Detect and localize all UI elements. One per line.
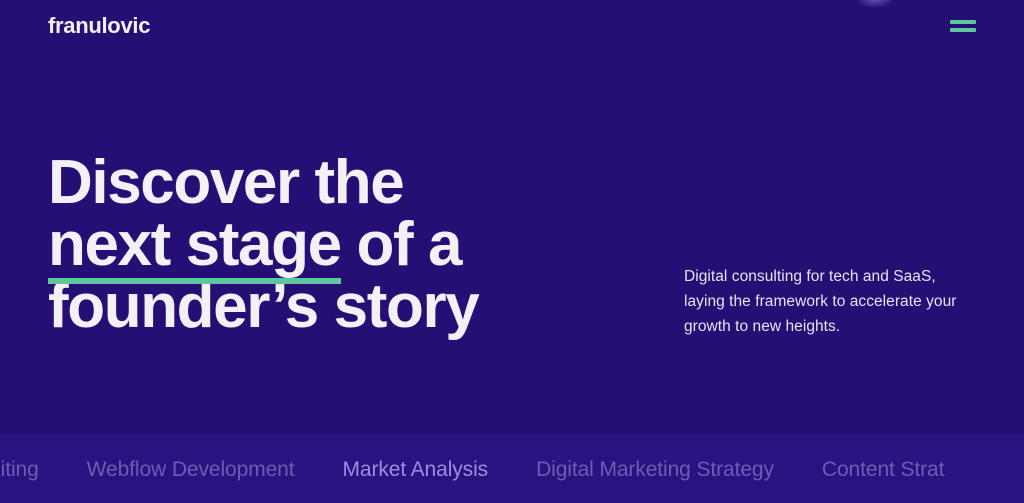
page-title: Discover the next stage of a founder’s s… xyxy=(48,152,478,338)
hero-subcopy: Digital consulting for tech and SaaS, la… xyxy=(684,264,974,339)
headline-underlined-phrase: next stage xyxy=(48,214,341,276)
headline-underlined-text: next stage xyxy=(48,210,341,279)
marquee-item[interactable]: Market Analysis xyxy=(319,459,513,480)
headline-line-3: founder’s story xyxy=(48,276,478,338)
hamburger-menu-icon[interactable] xyxy=(950,13,980,39)
marquee-item[interactable]: Digital Marketing Strategy xyxy=(512,459,798,480)
hamburger-bar-bottom xyxy=(950,28,976,32)
headline-underline-rule xyxy=(48,278,341,284)
headline-line-2: next stage of a xyxy=(48,214,478,276)
navbar: franulovic xyxy=(0,0,1024,52)
hero-section: Discover the next stage of a founder’s s… xyxy=(0,52,1024,435)
brand-logo[interactable]: franulovic xyxy=(48,15,150,37)
headline-line-2-rest: of a xyxy=(341,210,461,279)
marquee-item[interactable]: Content Strat xyxy=(798,459,968,480)
hamburger-bar-top xyxy=(950,20,976,24)
services-marquee[interactable]: e & SEO AuditingWebflow DevelopmentMarke… xyxy=(0,435,1024,503)
headline-line-1: Discover the xyxy=(48,152,478,214)
hero-page: franulovic Discover the next stage of a … xyxy=(0,0,1024,503)
marquee-item[interactable]: Webflow Development xyxy=(63,459,319,480)
marquee-track: e & SEO AuditingWebflow DevelopmentMarke… xyxy=(0,435,968,503)
marquee-item[interactable]: e & SEO Auditing xyxy=(0,459,63,480)
